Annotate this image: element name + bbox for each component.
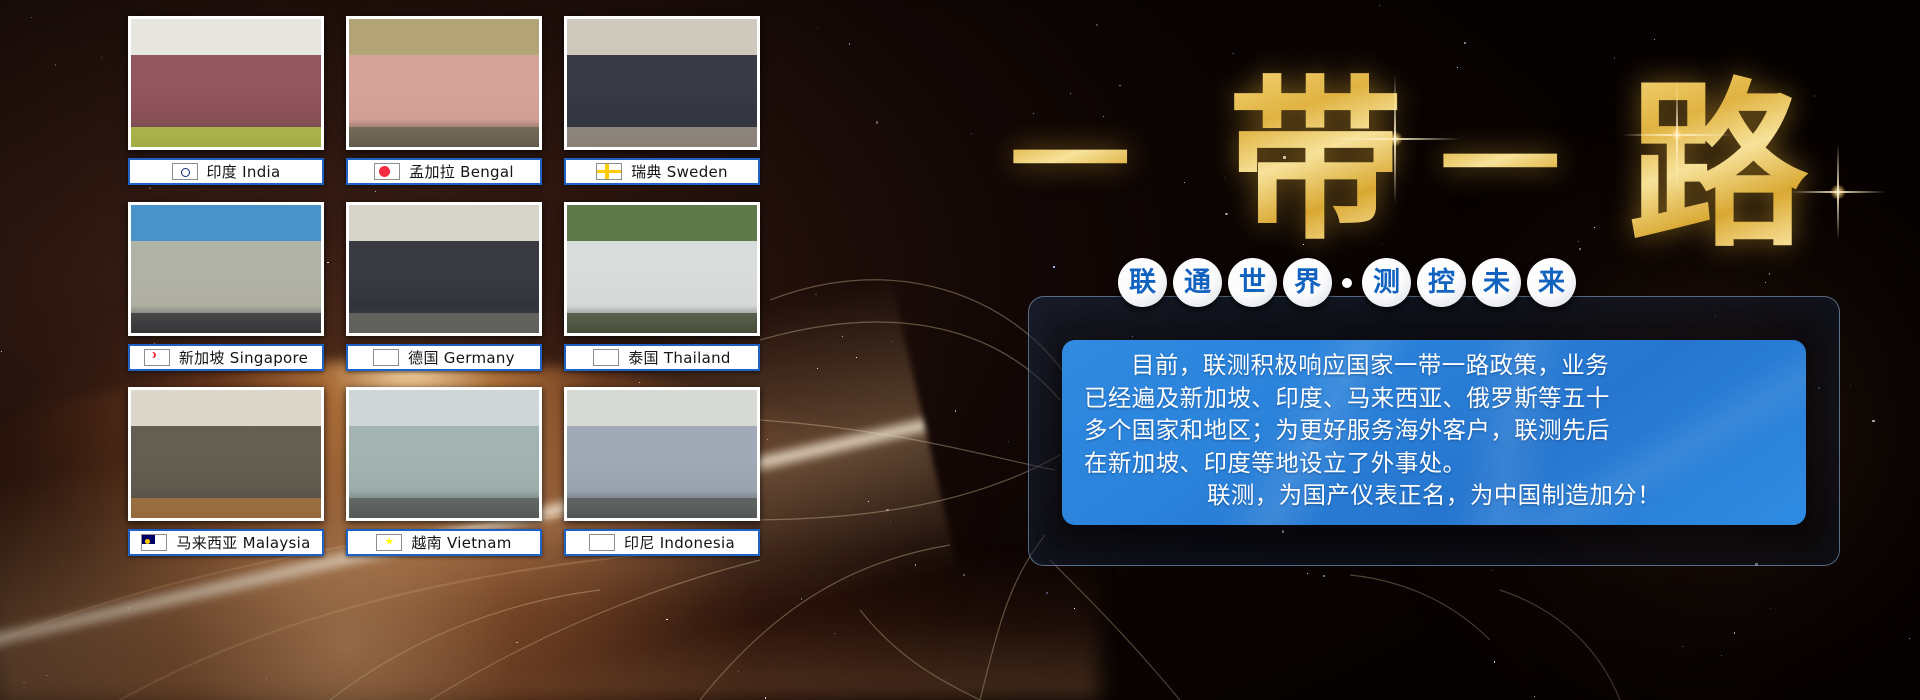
- malaysia-flag: [141, 534, 167, 551]
- vietnam-flag: [376, 534, 402, 551]
- sweden-flag: [596, 163, 622, 180]
- country-card[interactable]: 德国 Germany: [346, 202, 542, 371]
- slogan-char: 来: [1538, 269, 1565, 296]
- slogan-char: 通: [1184, 269, 1211, 296]
- about-line-5: 联测，为国产仪表正名，为中国制造加分！: [1084, 479, 1784, 511]
- country-photo[interactable]: [564, 16, 760, 150]
- country-card[interactable]: 马来西亚 Malaysia: [128, 387, 324, 556]
- slogan-char: 测: [1373, 269, 1400, 296]
- about-line-3: 多个国家和地区；为更好服务海外客户，联测先后: [1084, 414, 1784, 446]
- country-photo[interactable]: [564, 387, 760, 521]
- slogan-char-pill: 来: [1527, 258, 1576, 307]
- germany-flag: [373, 349, 399, 366]
- country-card[interactable]: 泰国 Thailand: [564, 202, 760, 371]
- slogan-char: 未: [1483, 269, 1510, 296]
- about-line-2: 已经遍及新加坡、印度、马来西亚、俄罗斯等五十: [1084, 382, 1784, 414]
- thailand-flag: [593, 349, 619, 366]
- headline-calligraphy: 一 带 一 路: [1010, 12, 1890, 212]
- country-photo[interactable]: [346, 387, 542, 521]
- country-photo[interactable]: [564, 202, 760, 336]
- country-label: 德国 Germany: [346, 344, 542, 371]
- country-label-text: 德国 Germany: [408, 347, 515, 368]
- country-label: 马来西亚 Malaysia: [128, 529, 324, 556]
- country-label-text: 越南 Vietnam: [411, 532, 511, 553]
- country-photo[interactable]: [128, 387, 324, 521]
- about-line-1: 目前，联测积极响应国家一带一路政策，业务: [1084, 349, 1784, 381]
- slogan-char-pill: 界: [1283, 258, 1332, 307]
- singapore-flag: [144, 349, 170, 366]
- slogan-char: 界: [1294, 269, 1321, 296]
- country-label: 新加坡 Singapore: [128, 344, 324, 371]
- indonesia-flag: [589, 534, 615, 551]
- slogan-char-pill: 联: [1118, 258, 1167, 307]
- country-label: 印尼 Indonesia: [564, 529, 760, 556]
- country-photo[interactable]: [128, 202, 324, 336]
- country-label-text: 印度 India: [207, 161, 281, 182]
- country-label: 孟加拉 Bengal: [346, 158, 542, 185]
- slogan-char-pill: 世: [1228, 258, 1277, 307]
- country-card[interactable]: 孟加拉 Bengal: [346, 16, 542, 185]
- banner-stage: 印度 India孟加拉 Bengal瑞典 Sweden新加坡 Singapore…: [0, 0, 1920, 700]
- country-label: 瑞典 Sweden: [564, 158, 760, 185]
- country-label: 越南 Vietnam: [346, 529, 542, 556]
- country-card[interactable]: 印尼 Indonesia: [564, 387, 760, 556]
- headline-char-1: 一: [1010, 64, 1130, 238]
- slogan-char-pill: 控: [1417, 258, 1466, 307]
- slogan-separator-dot: [1342, 278, 1352, 288]
- headline-char-2: 带: [1228, 20, 1403, 273]
- slogan-char-pill: 测: [1362, 258, 1411, 307]
- country-label: 印度 India: [128, 158, 324, 185]
- about-line-4: 在新加坡、印度等地设立了外事处。: [1084, 447, 1784, 479]
- slogan-char: 世: [1239, 269, 1266, 296]
- country-label-text: 新加坡 Singapore: [179, 347, 308, 368]
- headline-char-3: 一: [1440, 68, 1560, 242]
- slogan-char-pill: 未: [1472, 258, 1521, 307]
- india-flag: [172, 163, 198, 180]
- country-photo[interactable]: [346, 16, 542, 150]
- about-text-box: 目前，联测积极响应国家一带一路政策，业务 已经遍及新加坡、印度、马来西亚、俄罗斯…: [1062, 340, 1806, 525]
- slogan-char-pill: 通: [1173, 258, 1222, 307]
- country-photo[interactable]: [346, 202, 542, 336]
- country-card[interactable]: 越南 Vietnam: [346, 387, 542, 556]
- country-label-text: 泰国 Thailand: [628, 347, 731, 368]
- slogan-row: 联通世界测控未来: [1118, 258, 1576, 307]
- country-label-text: 孟加拉 Bengal: [409, 161, 514, 182]
- country-card[interactable]: 新加坡 Singapore: [128, 202, 324, 371]
- slogan-char: 控: [1428, 269, 1455, 296]
- bengal-flag: [374, 163, 400, 180]
- slogan-char: 联: [1129, 269, 1156, 296]
- country-label: 泰国 Thailand: [564, 344, 760, 371]
- headline-char-4: 路: [1628, 20, 1808, 281]
- country-label-text: 印尼 Indonesia: [624, 532, 735, 553]
- country-label-text: 瑞典 Sweden: [631, 161, 728, 182]
- country-card[interactable]: 印度 India: [128, 16, 324, 185]
- country-card[interactable]: 瑞典 Sweden: [564, 16, 760, 185]
- country-label-text: 马来西亚 Malaysia: [176, 532, 310, 553]
- country-photo[interactable]: [128, 16, 324, 150]
